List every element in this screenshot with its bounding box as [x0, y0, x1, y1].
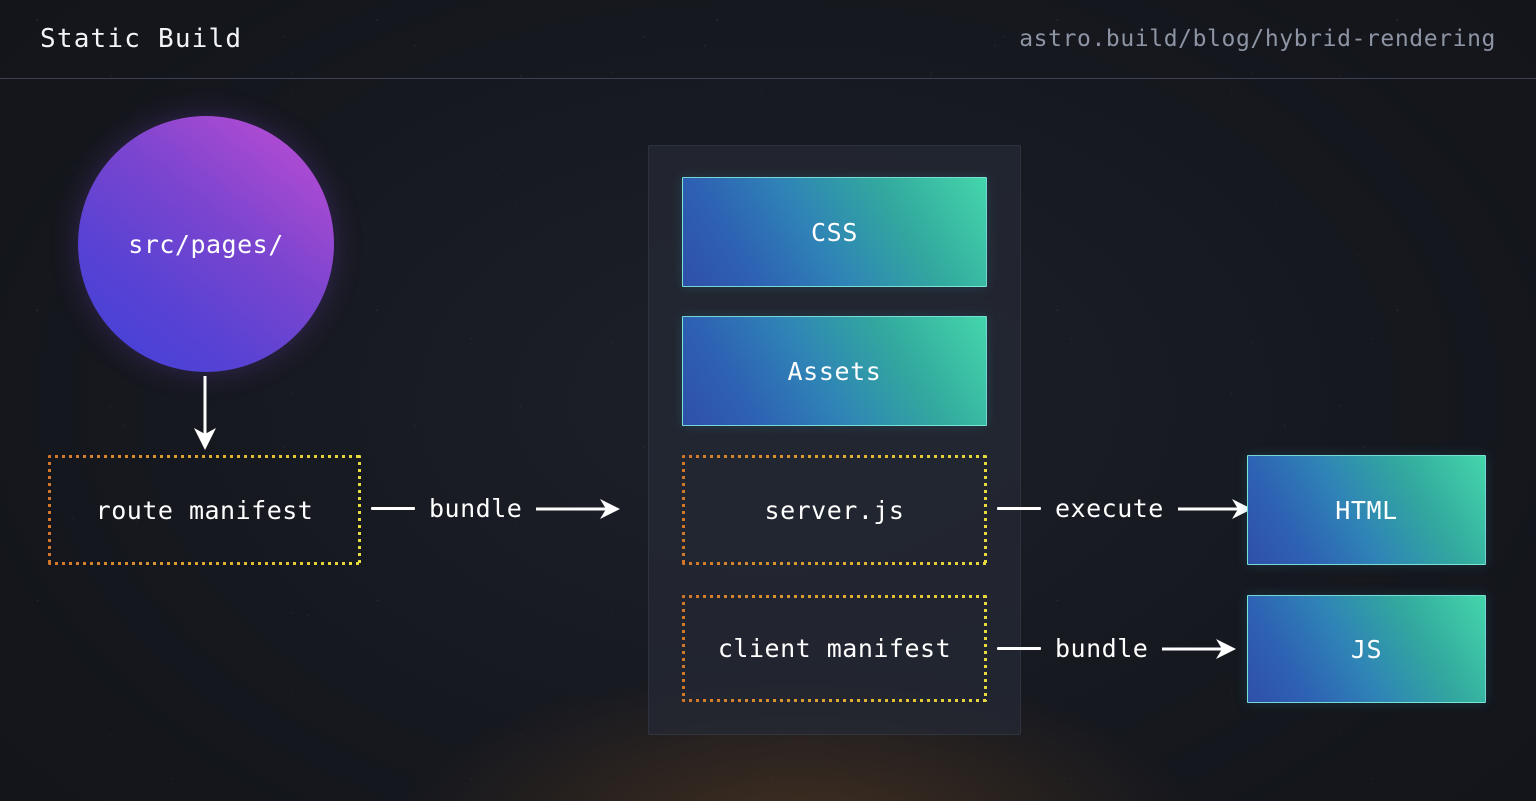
node-html-label: HTML	[1335, 496, 1398, 525]
edge-client-to-js-label: bundle	[1041, 634, 1162, 663]
page-title: Static Build	[40, 24, 242, 54]
arrow-down-icon	[186, 376, 224, 452]
node-route-manifest-label: route manifest	[96, 496, 314, 525]
node-assets-label: Assets	[788, 357, 882, 386]
source-url: astro.build/blog/hybrid-rendering	[1019, 26, 1496, 52]
node-assets: Assets	[682, 316, 987, 426]
arrow-line-segment	[371, 507, 415, 510]
edge-source-to-route-manifest	[186, 376, 224, 456]
edge-server-to-html: execute	[997, 494, 1253, 523]
node-js-label: JS	[1351, 635, 1382, 664]
node-src-pages: src/pages/	[78, 116, 334, 372]
arrow-right-icon	[1162, 636, 1237, 662]
arrow-line-segment	[997, 647, 1041, 650]
node-src-pages-label: src/pages/	[128, 230, 284, 259]
node-route-manifest: route manifest	[48, 455, 361, 565]
node-server-js: server.js	[682, 455, 987, 565]
node-css: CSS	[682, 177, 987, 287]
edge-server-to-html-label: execute	[1041, 494, 1178, 523]
diagram-header: Static Build astro.build/blog/hybrid-ren…	[0, 0, 1536, 79]
node-server-js-label: server.js	[765, 496, 905, 525]
edge-client-to-js: bundle	[997, 634, 1237, 663]
node-css-label: CSS	[811, 218, 858, 247]
arrow-line-segment	[997, 507, 1041, 510]
arrow-right-icon	[1178, 496, 1253, 522]
arrow-right-icon	[536, 496, 621, 522]
node-html: HTML	[1247, 455, 1486, 565]
edge-route-to-server: bundle	[371, 494, 621, 523]
node-client-manifest-label: client manifest	[718, 634, 951, 663]
diagram-canvas: Static Build astro.build/blog/hybrid-ren…	[0, 0, 1536, 801]
edge-route-to-server-label: bundle	[415, 494, 536, 523]
node-js: JS	[1247, 595, 1486, 703]
node-client-manifest: client manifest	[682, 595, 987, 702]
